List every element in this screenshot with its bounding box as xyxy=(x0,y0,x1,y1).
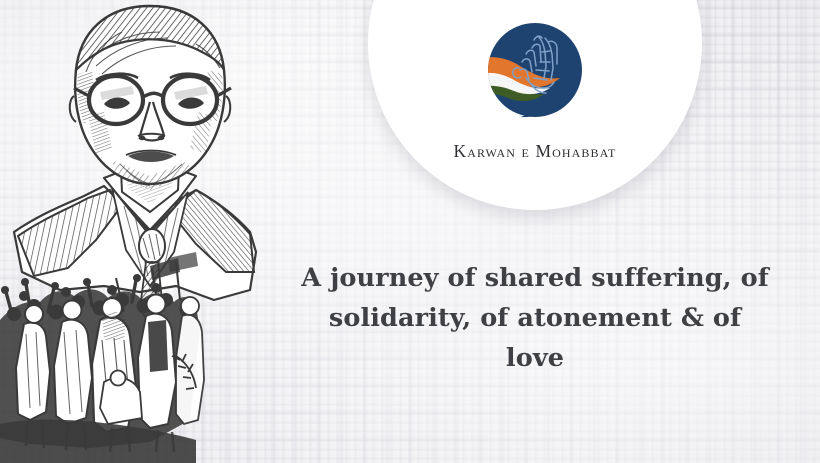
poster-canvas: Karwan e Mohabbat A journey of shared su… xyxy=(0,0,820,463)
tagline-line-2: solidarity, of atonement & of love xyxy=(300,298,770,378)
karwan-e-mohabbat-logo-icon xyxy=(476,18,594,130)
tagline-line-1: A journey of shared suffering, of xyxy=(300,258,770,298)
logo-wordmark: Karwan e Mohabbat xyxy=(368,141,702,162)
tagline: A journey of shared suffering, of solida… xyxy=(300,258,770,378)
